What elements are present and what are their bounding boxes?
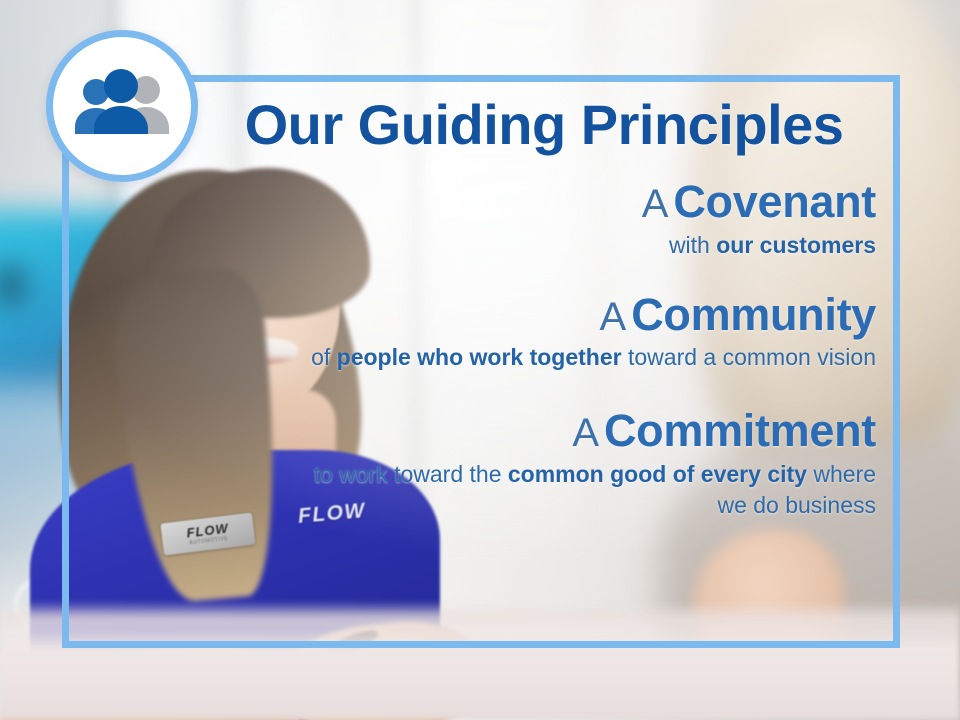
principle-title: A Covenant [300,178,876,226]
principle-word: Community [631,289,876,340]
principle-word: Covenant [673,176,876,227]
principle-article: A [600,295,627,339]
principle-commitment: A Commitment to work toward the common g… [300,407,876,520]
page-title: Our Guiding Principles [214,96,874,154]
principle-word: Commitment [604,405,876,456]
principle-article: A [642,182,669,226]
principle-description: to work toward the common good of every … [300,459,876,521]
desk-surface [0,600,960,720]
poster-canvas: FLOW AUTOMOTIVE FLOW [0,0,960,720]
people-badge [46,30,198,182]
principle-title: A Community [300,291,876,339]
principle-community: A Community of people who work together … [300,291,876,374]
showroom-display-shadow [0,250,40,320]
principle-article: A [572,411,599,455]
principle-description: of people who work together toward a com… [300,342,876,373]
principle-description: with our customers [300,230,876,261]
principle-title: A Commitment [300,407,876,455]
principle-covenant: A Covenant with our customers [300,178,876,261]
principles-list: A Covenant with our customers A Communit… [300,178,876,530]
people-group-icon [69,69,175,143]
